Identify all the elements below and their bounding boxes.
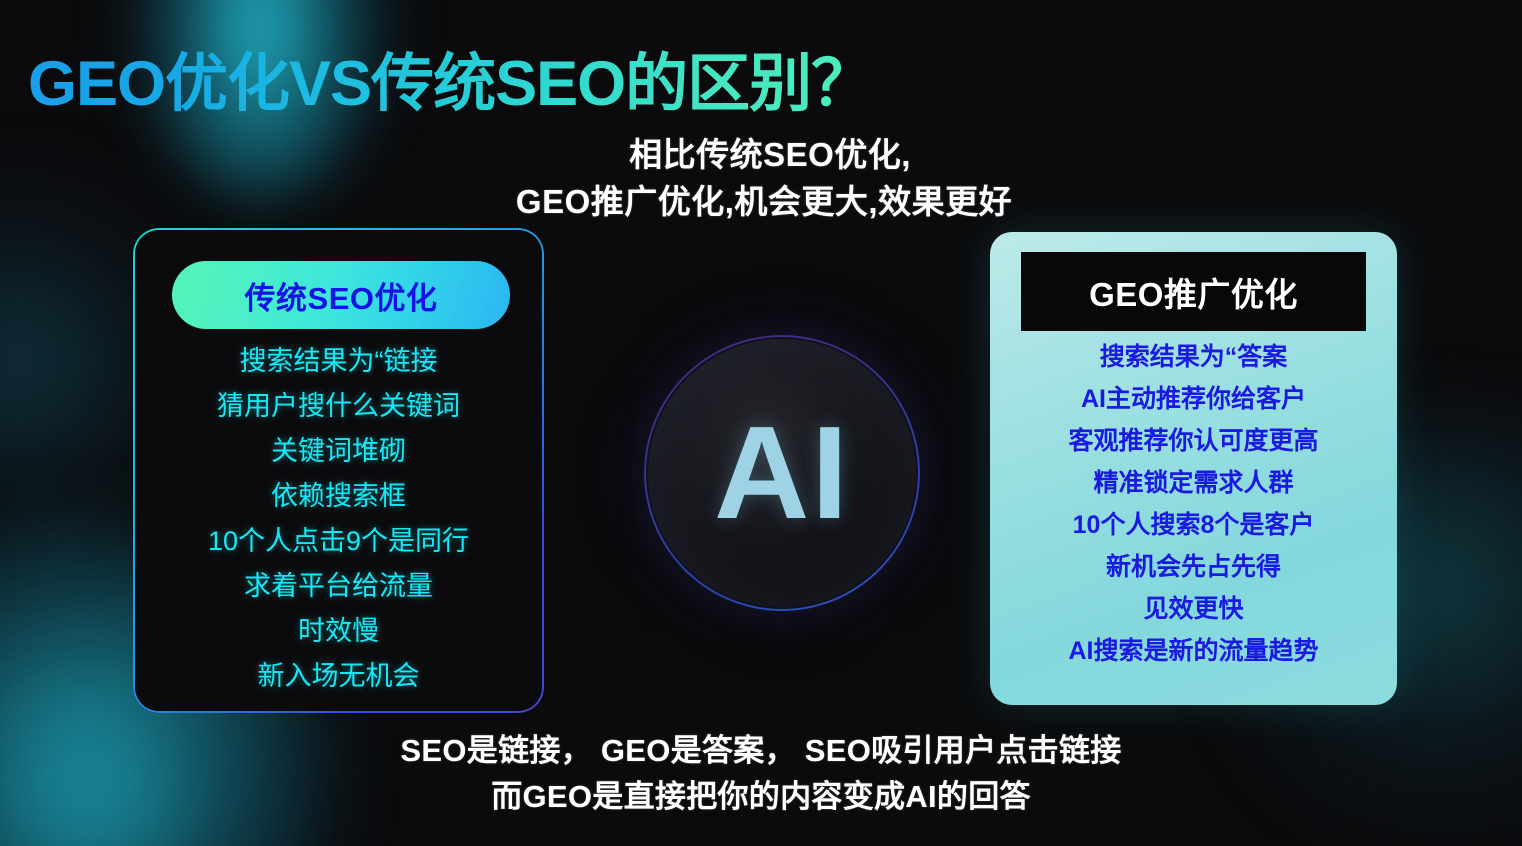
list-item: 见效更快 (990, 597, 1397, 622)
list-item: 搜索结果为“答案 (990, 345, 1397, 370)
page-title: GEO优化VS传统SEO的区别？ (28, 33, 873, 124)
list-item: 新入场无机会 (135, 663, 542, 690)
ai-sphere-icon: AI (648, 339, 916, 607)
list-item: 搜索结果为“链接 (135, 348, 542, 375)
traditional-seo-pill: 传统SEO优化 (172, 261, 510, 329)
subtitle-line-2: GEO推广优化,机会更大,效果更好 (0, 179, 1522, 226)
geo-promotion-header: GEO推广优化 (1021, 252, 1366, 331)
traditional-seo-card: 传统SEO优化 搜索结果为“链接 猜用户搜什么关键词 关键词堆砌 依赖搜索框 1… (133, 228, 544, 713)
traditional-seo-card-inner: 传统SEO优化 搜索结果为“链接 猜用户搜什么关键词 关键词堆砌 依赖搜索框 1… (135, 230, 542, 711)
geo-promotion-header-label: GEO推广优化 (1089, 268, 1298, 316)
footer-block: SEO是链接， GEO是答案， SEO吸引用户点击链接 而GEO是直接把你的内容… (0, 728, 1522, 820)
list-item: 10个人点击9个是同行 (135, 528, 542, 555)
list-item: 关键词堆砌 (135, 438, 542, 465)
list-item: 10个人搜索8个是客户 (990, 513, 1397, 538)
traditional-seo-pill-label: 传统SEO优化 (245, 273, 438, 318)
list-item: 客观推荐你认可度更高 (990, 429, 1397, 454)
subtitle-block: 相比传统SEO优化, GEO推广优化,机会更大,效果更好 (0, 132, 1522, 226)
list-item: 依赖搜索框 (135, 483, 542, 510)
traditional-seo-list: 搜索结果为“链接 猜用户搜什么关键词 关键词堆砌 依赖搜索框 10个人点击9个是… (135, 348, 542, 708)
ai-sphere-label: AI (714, 407, 850, 539)
list-item: 求着平台给流量 (135, 573, 542, 600)
geo-promotion-list: 搜索结果为“答案 AI主动推荐你给客户 客观推荐你认可度更高 精准锁定需求人群 … (990, 345, 1397, 681)
list-item: 时效慢 (135, 618, 542, 645)
slide-canvas: GEO优化VS传统SEO的区别？ 相比传统SEO优化, GEO推广优化,机会更大… (0, 0, 1522, 846)
list-item: AI主动推荐你给客户 (990, 387, 1397, 412)
list-item: 精准锁定需求人群 (990, 471, 1397, 496)
list-item: AI搜索是新的流量趋势 (990, 639, 1397, 664)
list-item: 新机会先占先得 (990, 555, 1397, 580)
geo-promotion-card: GEO推广优化 搜索结果为“答案 AI主动推荐你给客户 客观推荐你认可度更高 精… (990, 232, 1397, 705)
subtitle-line-1: 相比传统SEO优化, (0, 132, 1522, 179)
footer-line-2: 而GEO是直接把你的内容变成AI的回答 (0, 774, 1522, 820)
list-item: 猜用户搜什么关键词 (135, 393, 542, 420)
footer-line-1: SEO是链接， GEO是答案， SEO吸引用户点击链接 (0, 728, 1522, 774)
